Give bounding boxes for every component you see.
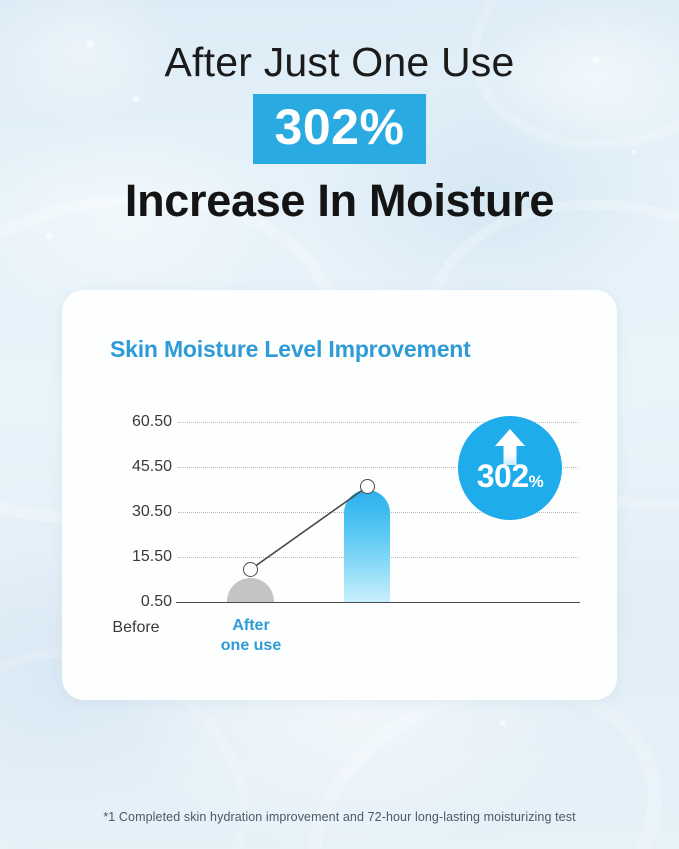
data-point-after <box>360 479 375 494</box>
infographic-page: After Just One Use 302% Increase In Mois… <box>0 0 679 849</box>
increase-badge: 302% <box>458 416 562 520</box>
water-droplet-decoration <box>500 720 506 726</box>
badge-unit: % <box>529 472 544 491</box>
y-axis-tick-label: 30.50 <box>132 503 172 521</box>
x-axis-label-after: After one use <box>192 616 310 655</box>
headline-block: After Just One Use 302% Increase In Mois… <box>0 40 679 226</box>
water-droplet-decoration <box>45 232 52 239</box>
headline-percent-highlight: 302% <box>253 94 427 164</box>
headline-line-3: Increase In Moisture <box>0 176 679 226</box>
y-axis-tick-label: 15.50 <box>132 548 172 566</box>
headline-line-1: After Just One Use <box>0 40 679 86</box>
y-axis-tick-label: 45.50 <box>132 458 172 476</box>
y-axis-tick-label: 0.50 <box>141 593 172 611</box>
headline-highlight-wrap: 302% <box>0 94 679 164</box>
badge-value: 302% <box>458 460 562 492</box>
x-axis-line <box>176 602 580 603</box>
footnote: *1 Completed skin hydration improvement … <box>0 810 679 824</box>
data-point-before <box>243 562 258 577</box>
badge-number: 302 <box>477 458 529 494</box>
y-axis-tick-label: 60.50 <box>132 413 172 431</box>
x-axis-label-before: Before <box>78 618 194 638</box>
chart-card: Skin Moisture Level Improvement 60.50 45… <box>62 290 617 700</box>
moisture-bar-chart: 60.50 45.50 30.50 15.50 0.50 <box>62 290 617 700</box>
